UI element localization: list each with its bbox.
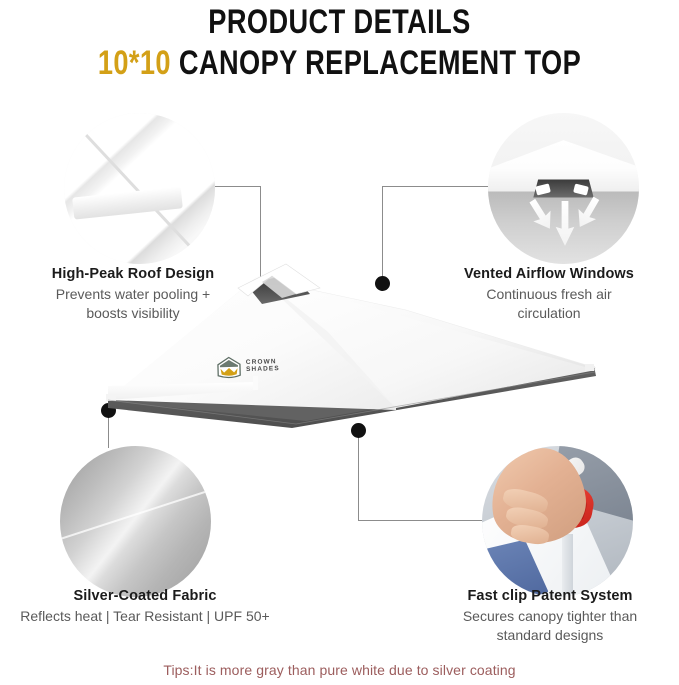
subtitle-size-highlight: 10*10	[98, 44, 171, 82]
hand-with-red-clip-photo	[482, 446, 633, 597]
caption-body-line-1: Continuous fresh air	[486, 286, 611, 302]
leader-line-fastclip-horizontal	[358, 520, 488, 521]
caption-body: Reflects heat | Tear Resistant | UPF 50+	[0, 607, 290, 625]
page-title: PRODUCT DETAILS	[68, 5, 611, 39]
caption-heading: High-Peak Roof Design	[8, 265, 258, 283]
page-subtitle: 10*10 CANOPY REPLACEMENT TOP	[68, 46, 611, 80]
leader-line-high-peak-horizontal	[214, 186, 261, 187]
canopy-corner-tab-right	[585, 364, 594, 371]
silver-fabric-closeup-photo	[60, 446, 211, 597]
leader-line-fastclip-vertical	[358, 430, 359, 521]
caption-body-line-1: Secures canopy tighter than	[463, 608, 637, 624]
caption-body: Secures canopy tighter than standard des…	[424, 607, 676, 644]
brand-name-line-2: SHADES	[246, 366, 280, 374]
tips-note: Tips:It is more gray than pure white due…	[0, 662, 679, 678]
caption-body-line-2: circulation	[517, 305, 580, 321]
caption-body-line-1: Prevents water pooling +	[56, 286, 210, 302]
caption-vented-airflow-windows: Vented Airflow Windows Continuous fresh …	[424, 265, 674, 322]
caption-body-line-1: Reflects heat | Tear Resistant | UPF 50+	[20, 608, 269, 624]
leader-line-vented-horizontal	[382, 186, 489, 187]
caption-body: Prevents water pooling + boosts visibili…	[8, 285, 258, 322]
roof-peak-closeup-photo	[64, 113, 215, 264]
title-block: PRODUCT DETAILS 10*10 CANOPY REPLACEMENT…	[0, 0, 679, 80]
caption-heading: Silver-Coated Fabric	[0, 587, 290, 605]
canopy-corner-tab-left	[106, 394, 116, 401]
caption-high-peak-roof-design: High-Peak Roof Design Prevents water poo…	[8, 265, 258, 322]
crown-shades-logo-icon	[216, 356, 243, 379]
vent-airflow-closeup-photo	[488, 113, 639, 264]
caption-body-line-2: standard designs	[497, 627, 604, 643]
brand-logo: CROWN SHADES	[216, 355, 280, 379]
caption-heading: Fast clip Patent System	[424, 587, 676, 605]
product-detail-infographic: PRODUCT DETAILS 10*10 CANOPY REPLACEMENT…	[0, 0, 679, 685]
canopy-corner-tab-mid	[253, 376, 258, 390]
caption-body-line-2: boosts visibility	[86, 305, 179, 321]
caption-heading: Vented Airflow Windows	[424, 265, 674, 283]
caption-body: Continuous fresh air circulation	[424, 285, 674, 322]
subtitle-text: CANOPY REPLACEMENT TOP	[179, 44, 581, 82]
caption-silver-coated-fabric: Silver-Coated Fabric Reflects heat | Tea…	[0, 587, 290, 626]
caption-fast-clip-patent-system: Fast clip Patent System Secures canopy t…	[424, 587, 676, 644]
